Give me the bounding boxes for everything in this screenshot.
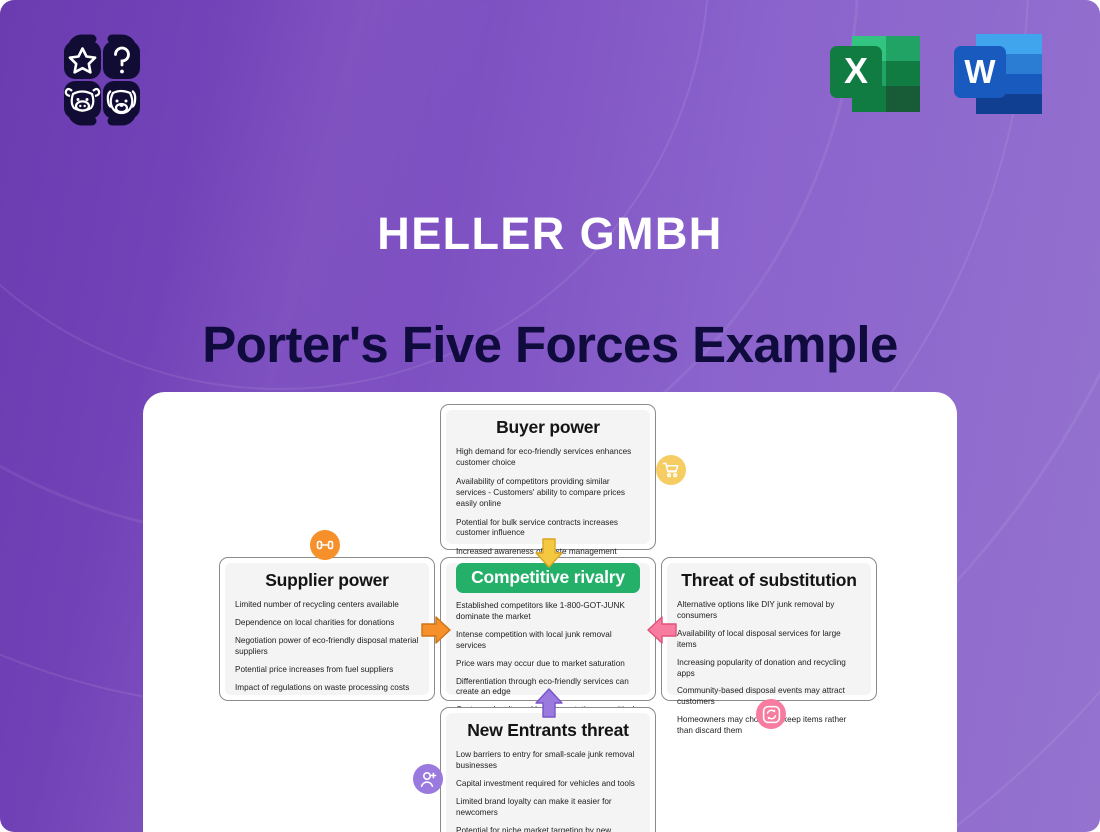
force-point: Impact of regulations on waste processin…: [235, 683, 419, 694]
force-point: Availability of competitors providing si…: [456, 477, 640, 510]
force-point: Capital investment required for vehicles…: [456, 779, 640, 790]
page-title: Porter's Five Forces Example: [0, 315, 1100, 374]
force-point: Intense competition with local junk remo…: [456, 630, 640, 652]
force-point: Availability of local disposal services …: [677, 629, 861, 651]
force-point: Negotiation power of eco-friendly dispos…: [235, 636, 419, 658]
force-point: High demand for eco-friendly services en…: [456, 447, 640, 469]
word-icon: W: [950, 28, 1048, 124]
force-point: Potential price increases from fuel supp…: [235, 665, 419, 676]
arrow-supplier-to-rivalry: [421, 614, 452, 646]
force-box-buyer[interactable]: Buyer power High demand for eco-friendly…: [440, 404, 656, 550]
force-point: Alternative options like DIY junk remova…: [677, 600, 861, 622]
force-point: Established competitors like 1-800-GOT-J…: [456, 601, 640, 623]
badge-buyer-cart-icon[interactable]: [656, 455, 686, 485]
force-point: Potential for bulk service contracts inc…: [456, 518, 640, 540]
arrow-buyer-to-rivalry: [533, 538, 565, 568]
force-point: Low barriers to entry for small-scale ju…: [456, 750, 640, 772]
force-point: Price wars may occur due to market satur…: [456, 659, 640, 670]
company-name: HELLER GMBH: [0, 208, 1100, 260]
force-point: Limited brand loyalty can make it easier…: [456, 797, 640, 819]
svg-text:W: W: [964, 53, 996, 90]
office-icons-group: X W: [826, 28, 1048, 124]
force-box-substitution[interactable]: Threat of substitution Alternative optio…: [661, 557, 877, 701]
force-points-entrants: Low barriers to entry for small-scale ju…: [456, 750, 640, 832]
svg-text:X: X: [844, 50, 868, 91]
force-title-substitution: Threat of substitution: [677, 570, 861, 591]
force-title-entrants: New Entrants threat: [456, 720, 640, 741]
force-point: Increasing popularity of donation and re…: [677, 658, 861, 680]
force-point: Dependence on local charities for donati…: [235, 618, 419, 629]
poster-canvas: X W HELLER GMBH Porter's Five Forces Exa…: [0, 0, 1100, 832]
badge-substitution-refresh-icon[interactable]: [756, 699, 786, 729]
badge-entrants-add-user-icon[interactable]: [413, 764, 443, 794]
excel-icon: X: [826, 28, 924, 124]
force-point: Limited number of recycling centers avai…: [235, 600, 419, 611]
force-box-rivalry[interactable]: Competitive rivalry Established competit…: [440, 557, 656, 701]
force-title-buyer: Buyer power: [456, 417, 640, 438]
diagram-card: Buyer power High demand for eco-friendly…: [143, 392, 957, 832]
force-point: Potential for niche market targeting by …: [456, 826, 640, 832]
scan-frame-logo: [47, 27, 157, 133]
arrow-entrants-to-rivalry: [533, 688, 565, 718]
arrow-substitution-to-rivalry: [646, 614, 677, 646]
force-box-supplier[interactable]: Supplier power Limited number of recycli…: [219, 557, 435, 701]
force-box-entrants[interactable]: New Entrants threat Low barriers to entr…: [440, 707, 656, 832]
badge-supplier-dumbbell-icon[interactable]: [310, 530, 340, 560]
force-points-supplier: Limited number of recycling centers avai…: [235, 600, 419, 693]
force-title-supplier: Supplier power: [235, 570, 419, 591]
